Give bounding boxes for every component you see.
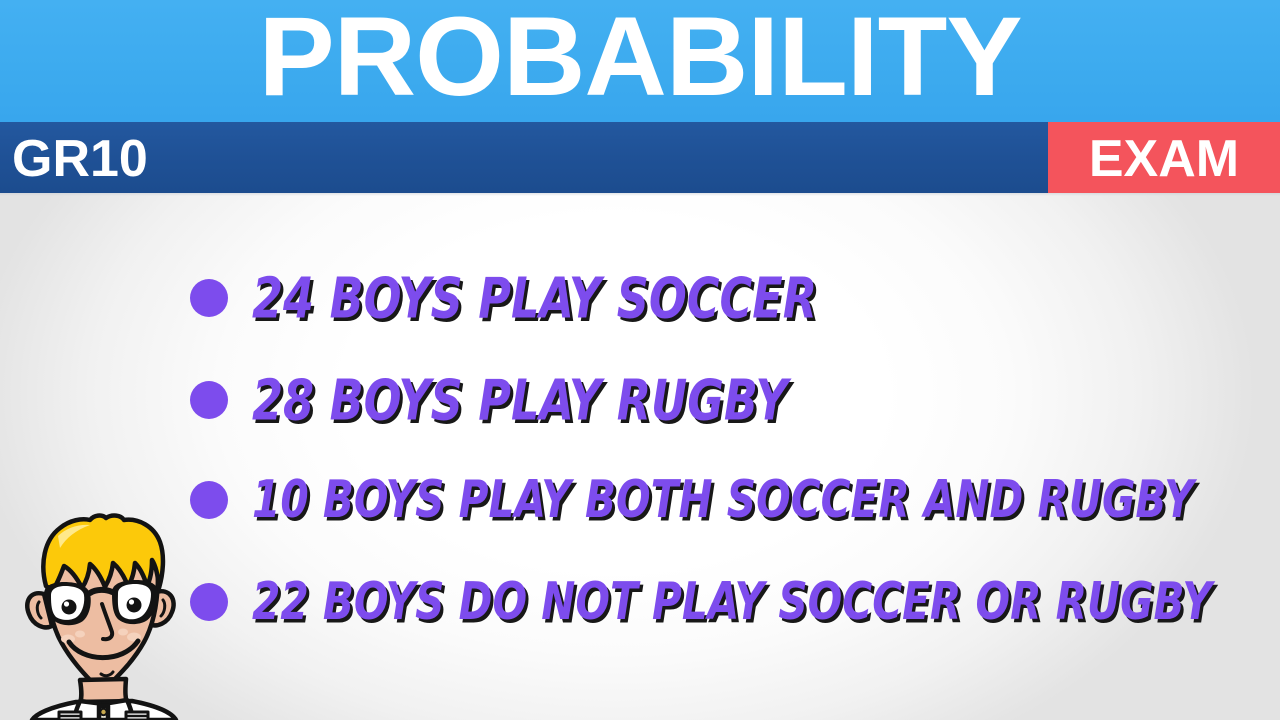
list-item-label: 22 BOYS DO NOT PLAY SOCCER OR RUGBY (252, 576, 1212, 627)
slide-root: PROBABILITY GR10 EXAM 24 BOYS PLAY SOCCE… (0, 0, 1280, 720)
exam-badge: EXAM (1048, 122, 1280, 193)
list-item: 10 BOYS PLAY BOTH SOCCER AND RUGBY (190, 470, 1223, 530)
list-item-label: 24 BOYS PLAY SOCCER (252, 270, 817, 326)
bullet-dot-icon (190, 279, 228, 317)
list-item: 24 BOYS PLAY SOCCER (190, 268, 835, 328)
list-item: 22 BOYS DO NOT PLAY SOCCER OR RUGBY (190, 572, 1242, 632)
list-item: 28 BOYS PLAY RUGBY (190, 370, 804, 430)
exam-badge-label: EXAM (1048, 122, 1280, 193)
bullet-dot-icon (190, 381, 228, 419)
list-item-label: 10 BOYS PLAY BOTH SOCCER AND RUGBY (252, 474, 1194, 525)
title-band: PROBABILITY (0, 0, 1280, 122)
list-item-label: 28 BOYS PLAY RUGBY (252, 372, 788, 428)
grade-label: GR10 (12, 122, 148, 193)
page-title: PROBABILITY (0, 0, 1280, 118)
mascot-nerd-boy-icon (6, 498, 202, 720)
